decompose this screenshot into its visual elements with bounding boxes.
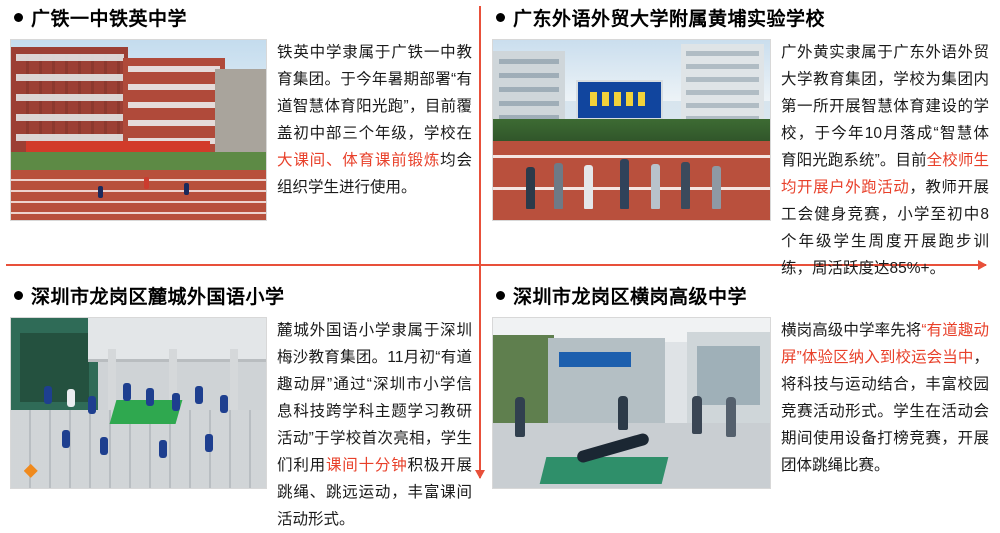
paragraph-part-1: 铁英中学隶属于广铁一中教育集团。于今年暑期部署“有道智慧体育阳光跑”，目前覆盖初… <box>277 44 472 142</box>
card-title: 广铁一中铁英中学 <box>31 4 187 31</box>
bullet-icon <box>496 291 505 300</box>
indoor-corridor-rope-skipping-photo <box>492 317 771 489</box>
paragraph-part-1: 麓城外国语小学隶属于深圳梅沙教育集团。11月初“有道趣动屏”通过“深圳市小学信息… <box>277 322 472 474</box>
card-header: 深圳市龙岗区横岗高级中学 <box>492 282 992 309</box>
card-body: 麓城外国语小学隶属于深圳梅沙教育集团。11月初“有道趣动屏”通过“深圳市小学信息… <box>10 317 472 533</box>
paragraph-highlight: 大课间、体育课前锻炼 <box>277 152 440 169</box>
bullet-icon <box>496 13 505 22</box>
card-shenzhen-longgang-henggang-senior-high: 深圳市龙岗区横岗高级中学 横岗高级中学率先将“有道趣动屏”体验区纳入到校运会当中… <box>492 282 992 489</box>
card-header: 广东外语外贸大学附属黄埔实验学校 <box>492 4 992 31</box>
school-courtyard-students-photo <box>10 317 267 489</box>
vertical-axis-arrow <box>479 6 481 478</box>
school-building-running-track-photo <box>10 39 267 221</box>
bullet-icon <box>14 13 23 22</box>
card-paragraph: 广外黄实隶属于广东外语外贸大学教育集团，学校为集团内第一所开展智慧体育建设的学校… <box>781 39 989 282</box>
card-title: 广东外语外贸大学附属黄埔实验学校 <box>513 4 825 31</box>
card-gwy-huangpu-experimental: 广东外语外贸大学附属黄埔实验学校 广外黄实隶属于广东外语外贸大学教育集团，学校为… <box>492 4 992 282</box>
card-body: 广外黄实隶属于广东外语外贸大学教育集团，学校为集团内第一所开展智慧体育建设的学校… <box>492 39 992 282</box>
card-title: 深圳市龙岗区横岗高级中学 <box>513 282 747 309</box>
card-shenzhen-longgang-lucheng-foreign-language-primary: 深圳市龙岗区麓城外国语小学 <box>10 282 472 533</box>
paragraph-highlight: 课间十分钟 <box>326 457 408 474</box>
paragraph-part-1: 广外黄实隶属于广东外语外贸大学教育集团，学校为集团内第一所开展智慧体育建设的学校… <box>781 44 989 169</box>
card-body: 铁英中学隶属于广铁一中教育集团。于今年暑期部署“有道智慧体育阳光跑”，目前覆盖初… <box>10 39 472 221</box>
card-paragraph: 横岗高级中学率先将“有道趣动屏”体验区纳入到校运会当中，将科技与运动结合，丰富校… <box>781 317 989 479</box>
card-paragraph: 铁英中学隶属于广铁一中教育集团。于今年暑期部署“有道智慧体育阳光跑”，目前覆盖初… <box>277 39 472 201</box>
card-guangtie-yizhong-tieying: 广铁一中铁英中学 铁英中学隶属于广铁一中教育集团。于今年暑期部署“有道智慧体育阳… <box>10 4 472 221</box>
card-body: 横岗高级中学率先将“有道趣动屏”体验区纳入到校运会当中，将科技与运动结合，丰富校… <box>492 317 992 489</box>
paragraph-part-3: ，将科技与运动结合，丰富校园竞赛活动形式。学生在活动会期间使用设备打榜竞赛，开展… <box>781 349 989 474</box>
bullet-icon <box>14 291 23 300</box>
card-header: 广铁一中铁英中学 <box>10 4 472 31</box>
slide-canvas: 广铁一中铁英中学 铁英中学隶属于广铁一中教育集团。于今年暑期部署“有道智慧体育阳… <box>0 0 1000 484</box>
card-header: 深圳市龙岗区麓城外国语小学 <box>10 282 472 309</box>
outdoor-track-led-screen-photo <box>492 39 771 221</box>
card-paragraph: 麓城外国语小学隶属于深圳梅沙教育集团。11月初“有道趣动屏”通过“深圳市小学信息… <box>277 317 472 533</box>
paragraph-part-1: 横岗高级中学率先将 <box>781 322 921 339</box>
card-title: 深圳市龙岗区麓城外国语小学 <box>31 282 285 309</box>
